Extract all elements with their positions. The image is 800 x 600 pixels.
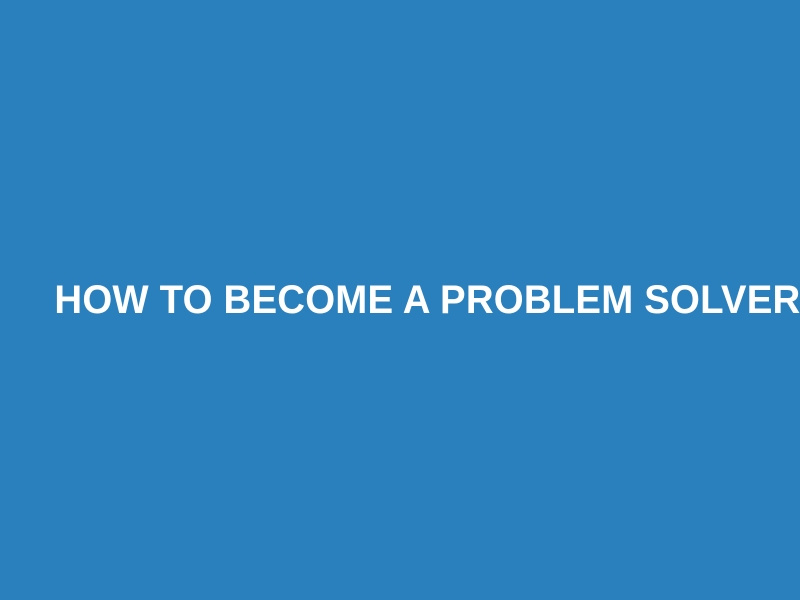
page-title: HOW TO BECOME A PROBLEM SOLVER? [54, 277, 745, 323]
featured-image-banner: HOW TO BECOME A PROBLEM SOLVER? [0, 0, 800, 600]
banner-title-container: HOW TO BECOME A PROBLEM SOLVER? [0, 277, 800, 323]
